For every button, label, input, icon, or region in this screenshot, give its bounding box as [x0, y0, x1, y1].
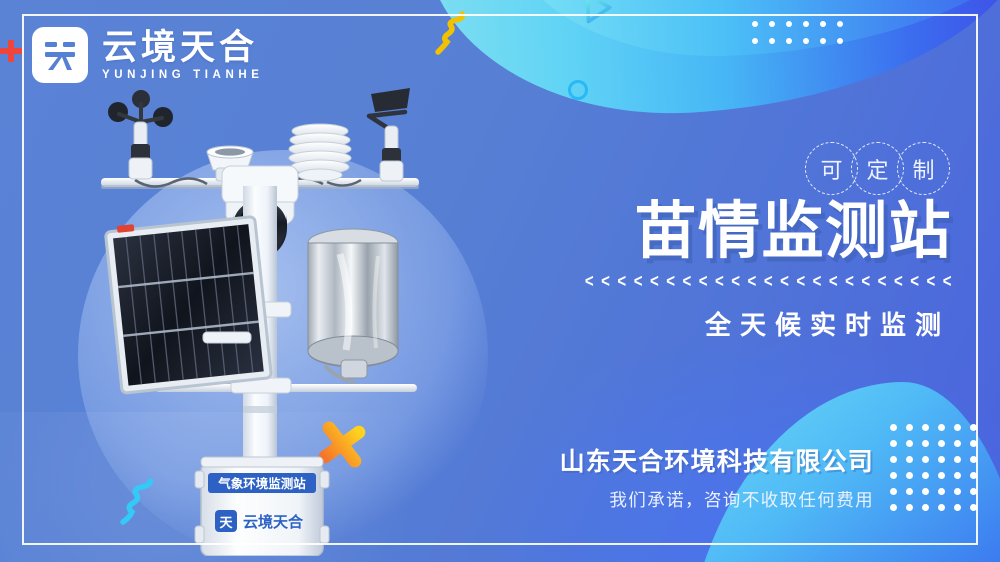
promise-tagline: 我们承诺，咨询不收取任何费用	[560, 487, 874, 512]
enclosure-brand-text: 云境天合	[243, 513, 304, 531]
controller-enclosure: 气象环境监测站 天 云境天合	[195, 457, 329, 556]
stainless-cylinder	[308, 229, 398, 382]
company-name: 山东天合环境科技有限公司	[560, 442, 874, 478]
chevron-divider: <<<<< <<<<< <<<<< <<<<< <<<	[552, 274, 952, 289]
headline-block: 可 定 制 苗情监测站 <<<<< <<<<< <<<<< <<<<< <<< …	[552, 142, 952, 342]
yunjing-tianhe-logo-icon	[32, 27, 88, 83]
promo-banner: 气象环境监测站 天 云境天合 云境天合 YUNJING T	[0, 0, 1000, 562]
wind-vane	[369, 88, 410, 181]
dot-grid-bottom-right	[890, 424, 986, 520]
customizable-badges: 可 定 制	[552, 142, 950, 195]
zigzag-yellow-icon	[432, 10, 478, 58]
logo-name-cn: 云境天合	[102, 29, 264, 66]
footer-block: 山东天合环境科技有限公司 我们承诺，咨询不收取任何费用	[560, 442, 874, 512]
circle-outline-icon	[568, 80, 588, 100]
page-title: 苗情监测站	[552, 199, 952, 266]
enclosure-label-text: 气象环境监测站	[217, 476, 306, 491]
solar-panel	[105, 212, 272, 394]
brand-logo[interactable]: 云境天合 YUNJING TIANHE	[32, 27, 264, 83]
dot-grid-top-right	[752, 21, 854, 55]
anemometer-cups	[108, 90, 173, 179]
weather-station-product-image: 气象环境监测站 天 云境天合	[95, 86, 425, 556]
svg-text:天: 天	[219, 515, 233, 530]
solar-panel-bracket	[203, 332, 251, 343]
badge-zhi: 制	[897, 142, 950, 195]
plus-icon	[0, 40, 22, 62]
page-subtitle: 全天候实时监测	[552, 305, 952, 342]
radiation-shield	[289, 124, 351, 181]
logo-name-en: YUNJING TIANHE	[102, 69, 264, 81]
